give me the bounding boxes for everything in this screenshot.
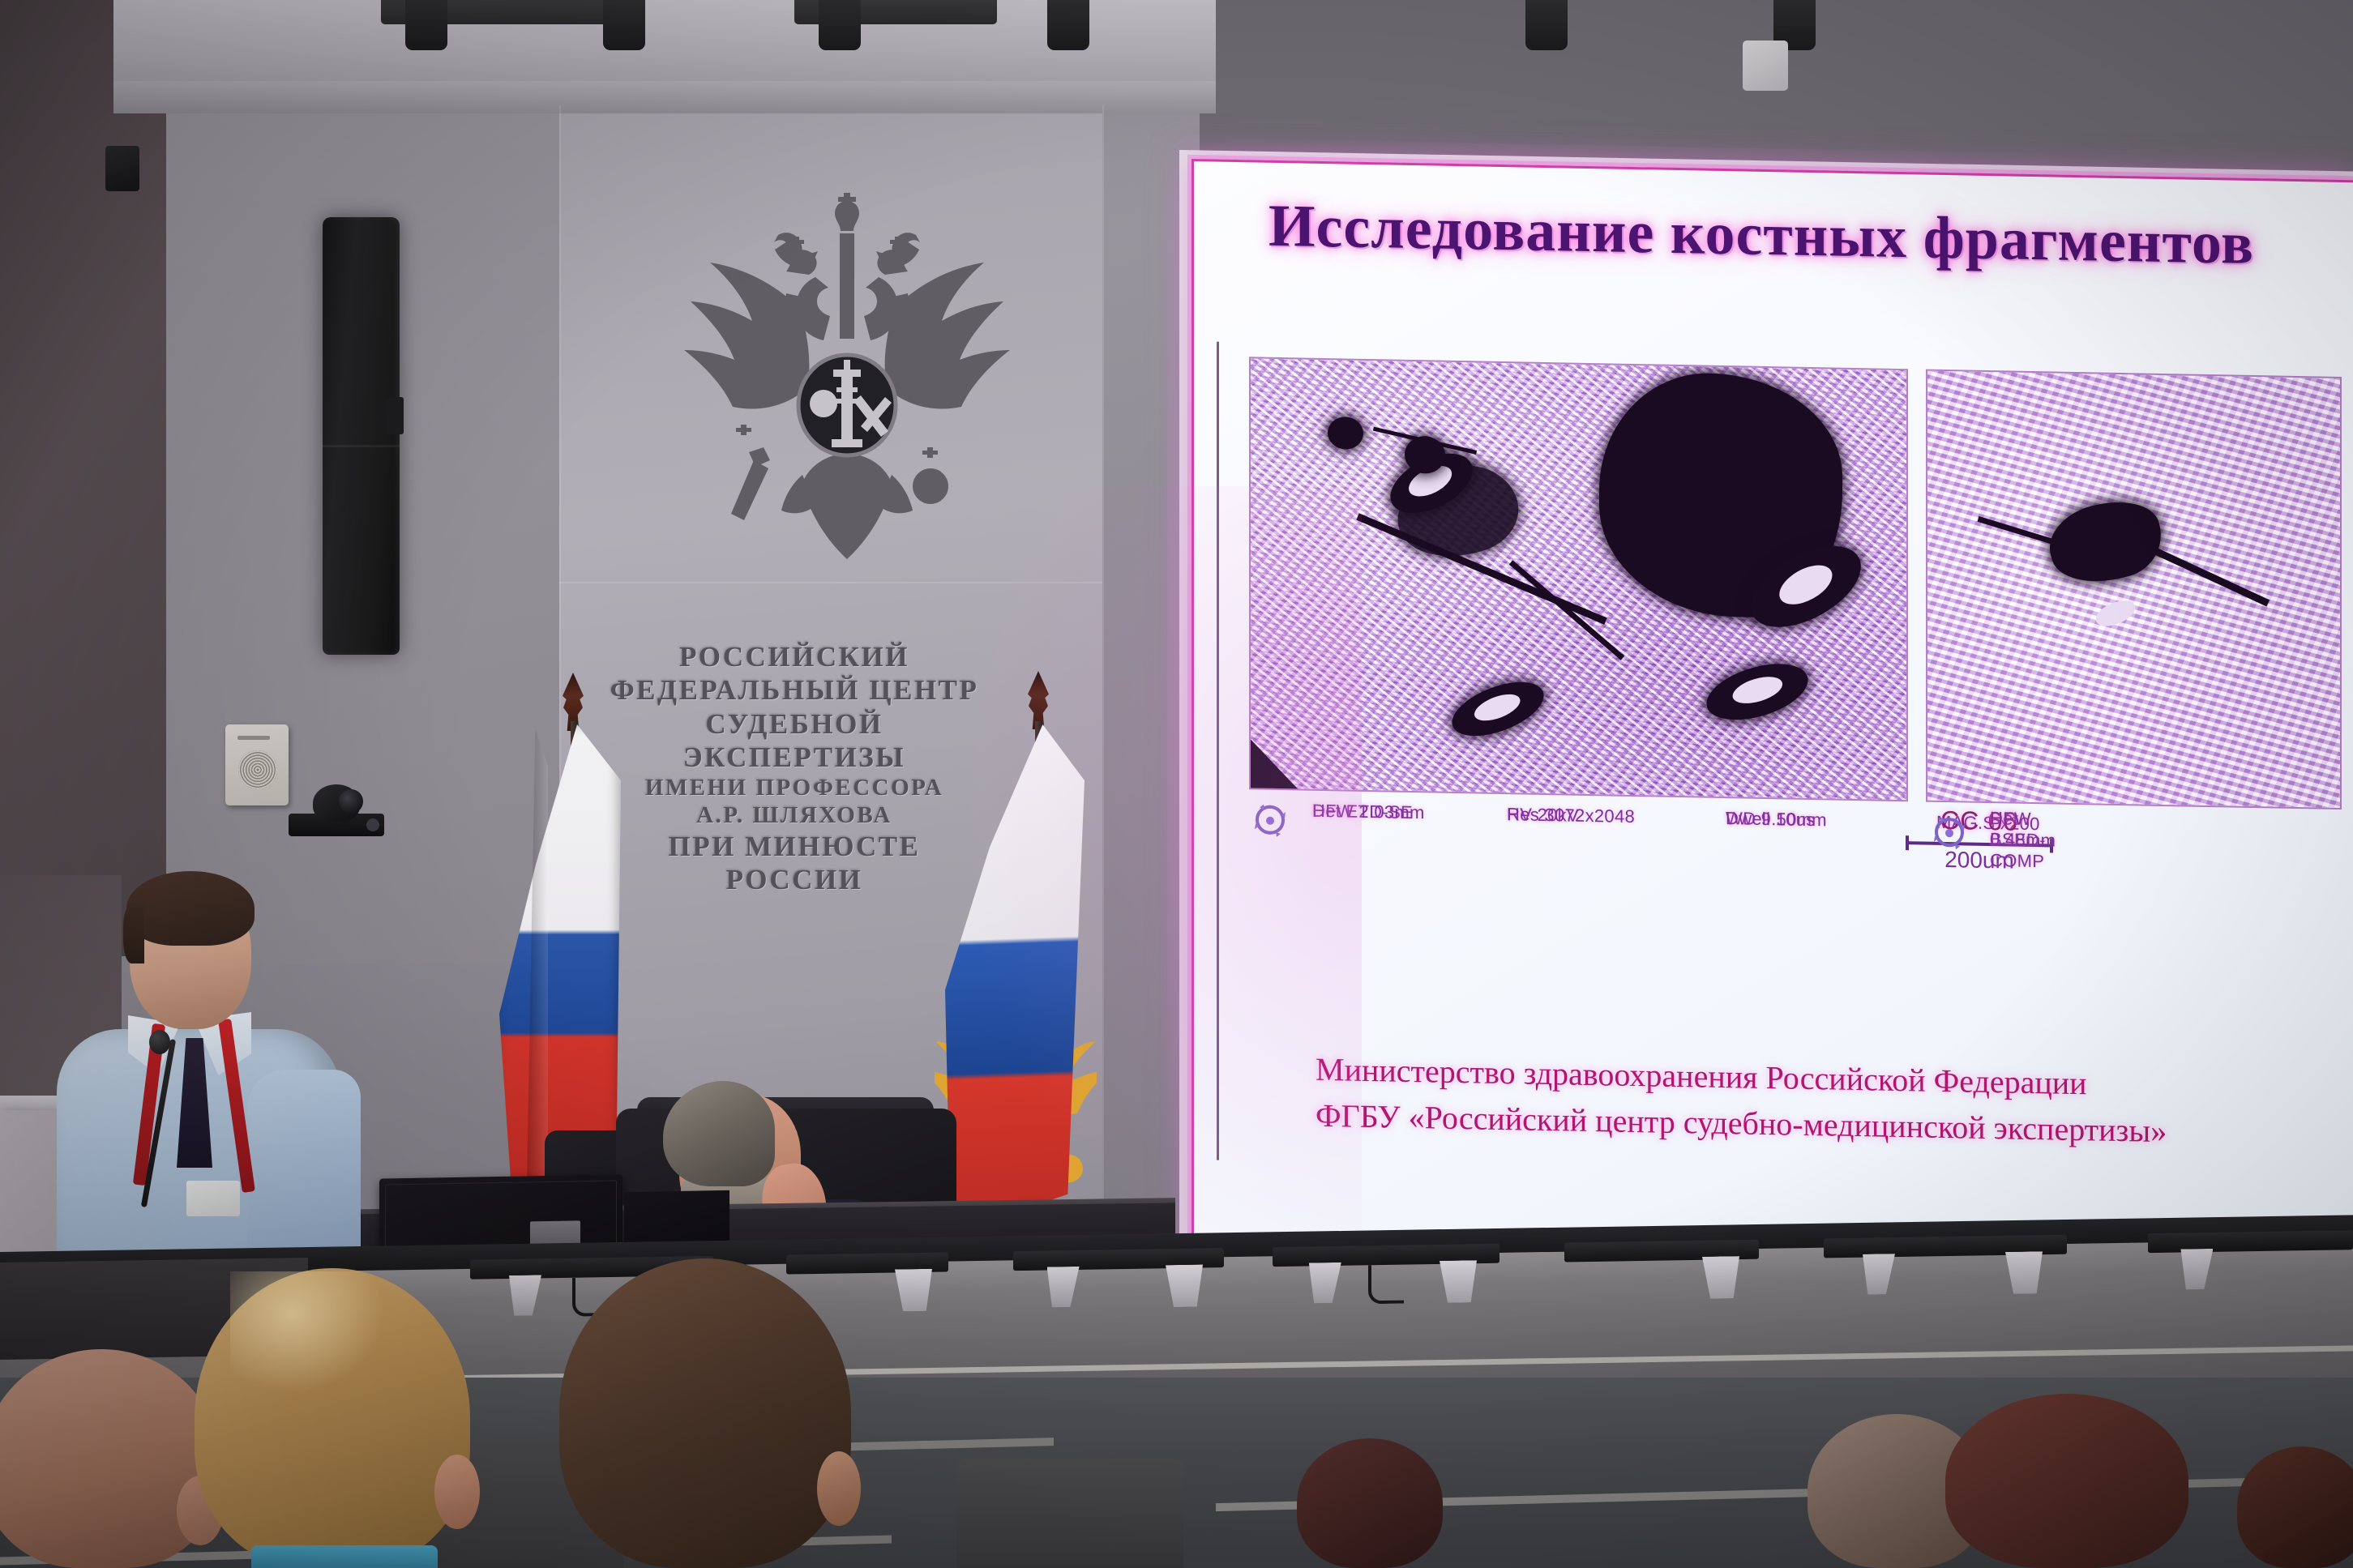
wall-speaker	[225, 724, 289, 805]
audience-ear-dark	[817, 1451, 861, 1526]
audience-head-right-3	[1945, 1394, 2188, 1568]
audience-member-dark-hair	[559, 1244, 859, 1568]
audience-head-right-1	[1297, 1438, 1443, 1568]
sem-hfw-label-right: HFW 0.48mm	[1990, 808, 2056, 851]
audience-hair-highlight	[230, 1271, 384, 1393]
audience-member-bald	[0, 1325, 227, 1568]
presenter-badge	[186, 1181, 240, 1216]
sem-hfw-label: HFW 2.03mm	[1312, 796, 1425, 829]
speaker-slot	[237, 736, 270, 740]
slide-accent-rule	[1217, 342, 1219, 1160]
audience-member-right-3	[1945, 1394, 2188, 1568]
sign-line-4: ЭКСПЕРТИЗЫ	[567, 741, 1021, 774]
audience-member-blond	[195, 1252, 478, 1568]
left-dark-wall	[0, 0, 166, 956]
monitor-arm-stem-5	[1702, 1256, 1739, 1299]
monitor-arm-stem-7l	[2180, 1249, 2213, 1290]
ceiling-light-1	[405, 0, 447, 50]
sem-pore-1	[1328, 417, 1363, 450]
audience-head-dark	[559, 1258, 851, 1568]
micrograph-panels	[1249, 357, 2342, 814]
sign-line-6: А.Р. ШЛЯХОВА	[567, 801, 1021, 829]
ceiling-sensor	[1743, 41, 1788, 91]
audience-collar-blond	[251, 1545, 438, 1568]
sem-osteon-lumen-4	[1773, 558, 1838, 613]
speaker-grille-icon	[238, 750, 277, 789]
slide-footer: Министерство здравоохранения Российской …	[1316, 1047, 2329, 1158]
monitor-arm-stem-3l	[1047, 1267, 1080, 1308]
monitor-arm-4	[1273, 1244, 1500, 1310]
wall-sign: РОССИЙСКИЙ ФЕДЕРАЛЬНЫЙ ЦЕНТР СУДЕБНОЙ ЭК…	[567, 640, 1021, 896]
sem-micrograph-right	[1926, 370, 2342, 810]
audience-ear-blond	[434, 1455, 480, 1529]
presentation-slide: Исследование костных фрагментов	[1191, 159, 2353, 1291]
sem-dwell-label: Dwell 10us	[1726, 803, 1816, 836]
audience-member-right-4	[2237, 1446, 2353, 1568]
sign-line-5: ИМЕНИ ПРОФЕССОРА	[567, 774, 1021, 801]
presenter-hair-side	[123, 904, 144, 963]
russian-federation-flag-left	[535, 673, 624, 1191]
ceiling-light-2	[603, 0, 645, 50]
monitor-arm-3	[1013, 1248, 1224, 1314]
line-array-speaker	[323, 217, 400, 655]
speaker-bracket	[386, 397, 404, 434]
ceiling-light-4	[1047, 0, 1089, 50]
ceiling-light-3	[819, 0, 861, 50]
sem-micrograph-left	[1249, 357, 1908, 801]
double-headed-eagle-emblem	[657, 186, 1037, 592]
camera-mount-hole	[366, 818, 379, 831]
monitor-arm-7	[2148, 1230, 2353, 1297]
russian-federation-flag-right	[1013, 671, 1135, 1238]
sign-line-7: ПРИ МИНЮСТЕ	[567, 830, 1021, 863]
sem-texture-right	[1927, 371, 2340, 808]
monitor-arm-stem-6l	[1863, 1254, 1895, 1295]
ceiling-soffit	[113, 81, 1216, 113]
presenter-arm	[247, 1070, 361, 1264]
microscope-logo-icon	[1249, 799, 1291, 842]
presenter-hair	[126, 871, 255, 946]
monitor-arm-stem-4r	[1440, 1260, 1477, 1303]
monitor-arm-stem-4l	[1309, 1263, 1341, 1304]
ptz-camera	[289, 783, 384, 838]
monitor-arm-bar-7	[2148, 1230, 2353, 1253]
monitor-arm-stem-left	[509, 1275, 541, 1316]
wall-sensor-left	[105, 146, 139, 191]
monitor-arm-stem-6r	[2005, 1251, 2043, 1294]
sign-line-8: РОССИИ	[567, 863, 1021, 896]
monitor-arm-cable-4	[1368, 1265, 1404, 1305]
sign-line-3: СУДЕБНОЙ	[567, 707, 1021, 741]
podium-microphone-capsule-icon	[149, 1030, 170, 1054]
sign-line-2: ФЕДЕРАЛЬНЫЙ ЦЕНТР	[567, 673, 1021, 707]
audience-head-right-4	[2237, 1446, 2353, 1568]
slide-title: Исследование костных фрагментов	[1268, 192, 2353, 281]
monitor-arm-stem-2	[895, 1269, 932, 1312]
camera-lens-icon	[339, 789, 363, 814]
sem-res-label: Res 3072x2048	[1507, 799, 1635, 832]
sem-osteon-lumen-3	[1730, 672, 1786, 708]
monitor-arm-stem-3r	[1166, 1264, 1203, 1307]
microscope-logo-icon-2	[1928, 812, 1970, 855]
monitor-arm-5	[1564, 1240, 1759, 1306]
sem-osteon-lumen-2	[1471, 689, 1524, 726]
conference-hall-photo: РОССИЙСКИЙ ФЕДЕРАЛЬНЫЙ ЦЕНТР СУДЕБНОЙ ЭК…	[0, 0, 2353, 1568]
audience-seat-2	[956, 1459, 1183, 1568]
monitor-arm-6	[1824, 1235, 2067, 1302]
sign-line-1: РОССИЙСКИЙ	[567, 640, 1021, 673]
ceiling-light-5	[1525, 0, 1568, 50]
audience-member-right-1	[1297, 1438, 1443, 1568]
